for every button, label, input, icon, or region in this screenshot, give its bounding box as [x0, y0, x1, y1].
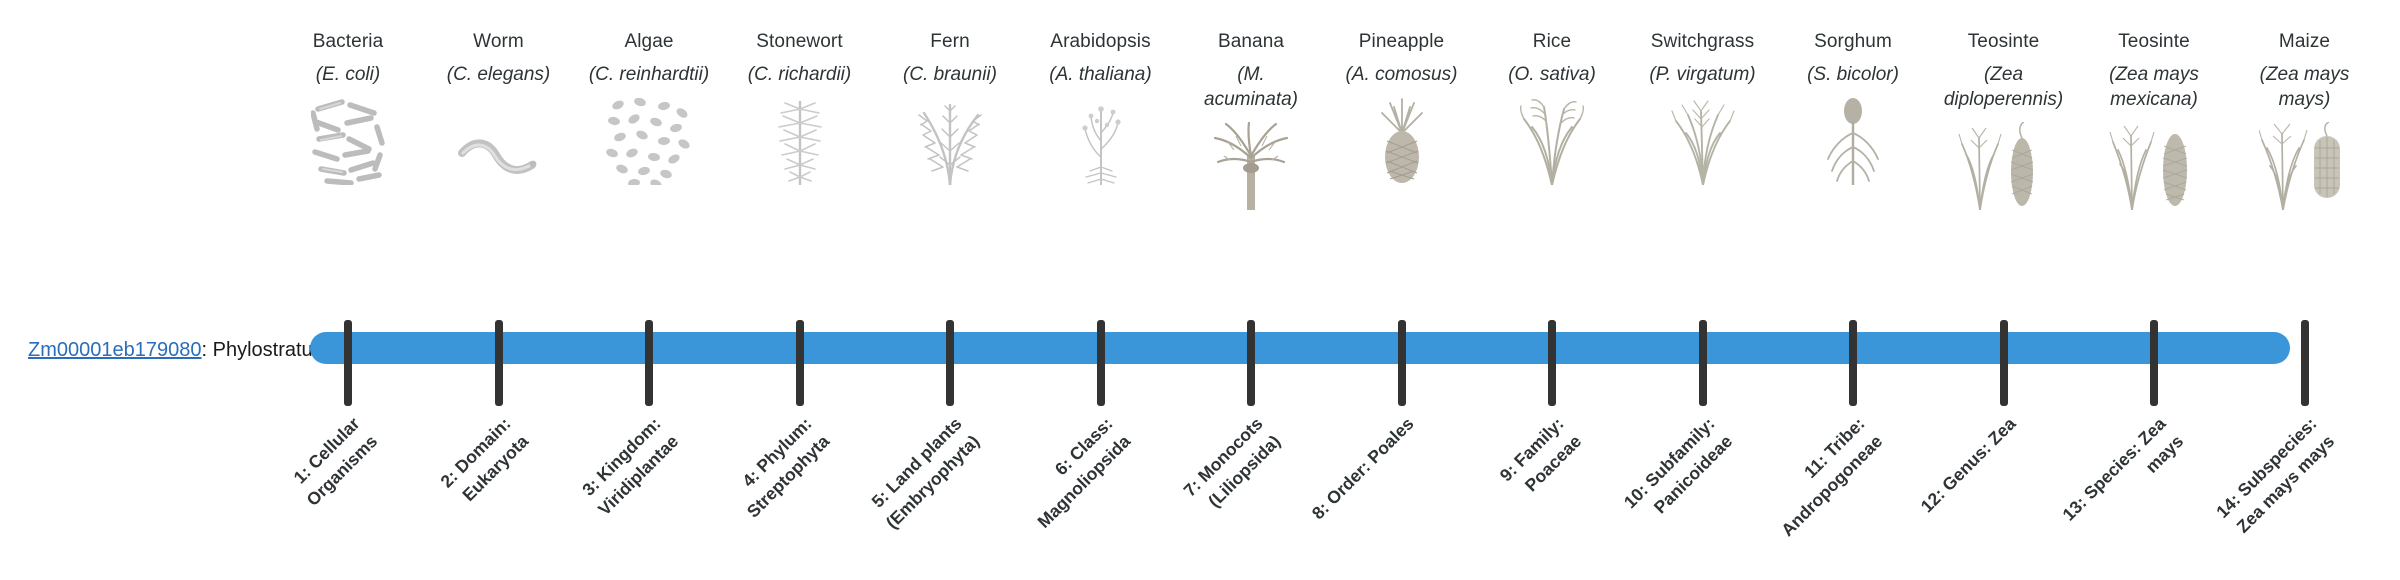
- species-common-name: Stonewort: [738, 30, 862, 54]
- species-scientific-name: (C. richardii): [738, 62, 862, 87]
- species-scientific-name: (A. comosus): [1340, 62, 1464, 87]
- taxonomy-rank-label: 1: Cellular Organisms: [242, 412, 383, 553]
- species-common-name: Fern: [888, 30, 1012, 54]
- taxonomy-rank-label: 11: Tribe: Andropogoneae: [1747, 412, 1888, 553]
- timeline-tick[interactable]: [2301, 320, 2309, 406]
- species-scientific-name: (C. reinhardtii): [587, 62, 711, 87]
- gene-phylostratum-label: Zm00001eb179080: Phylostratum 1: [28, 339, 346, 362]
- species-common-name: Teosinte: [2092, 30, 2216, 54]
- species-common-name: Algae: [587, 30, 711, 54]
- species-common-name: Pineapple: [1340, 30, 1464, 54]
- species-column: Rice(O. sativa): [1490, 30, 1614, 185]
- timeline-tick[interactable]: [1699, 320, 1707, 406]
- species-common-name: Bacteria: [286, 30, 410, 54]
- species-scientific-name: (S. bicolor): [1791, 62, 1915, 87]
- species-common-name: Teosinte: [1942, 30, 2066, 54]
- stonewort-icon: [738, 93, 862, 185]
- species-column: Worm(C. elegans): [437, 30, 561, 185]
- species-column: Bacteria(E. coli): [286, 30, 410, 185]
- timeline-tick[interactable]: [495, 320, 503, 406]
- species-common-name: Arabidopsis: [1039, 30, 1163, 54]
- pineapple-icon: [1340, 93, 1464, 185]
- species-column: Maize(Zea mays mays): [2243, 30, 2367, 210]
- worm-icon: [437, 93, 561, 185]
- timeline-tick[interactable]: [946, 320, 954, 406]
- species-scientific-name: (Zea mays mays): [2243, 62, 2367, 112]
- timeline-tick[interactable]: [796, 320, 804, 406]
- species-common-name: Sorghum: [1791, 30, 1915, 54]
- gene-separator: :: [201, 339, 212, 361]
- taxonomy-rank-label: 4: Phylum: Streptophyta: [693, 412, 834, 553]
- species-scientific-name: (C. braunii): [888, 62, 1012, 87]
- species-column: Fern(C. braunii): [888, 30, 1012, 185]
- taxonomy-rank-label: 13: Species: Zea mays: [2048, 412, 2189, 553]
- timeline-tick[interactable]: [2150, 320, 2158, 406]
- taxonomy-rank-label: 7: Monocots (Liliopsida): [1145, 412, 1286, 553]
- algae-icon: [587, 93, 711, 185]
- timeline-tick[interactable]: [1398, 320, 1406, 406]
- taxonomy-rank-label: 3: Kingdom: Viridiplantae: [543, 412, 684, 553]
- switchgrass-icon: [1641, 93, 1765, 185]
- species-scientific-name: (C. elegans): [437, 62, 561, 87]
- timeline-tick[interactable]: [1849, 320, 1857, 406]
- gene-id-link[interactable]: Zm00001eb179080: [28, 339, 201, 361]
- species-column: Stonewort(C. richardii): [738, 30, 862, 185]
- timeline-tick[interactable]: [1548, 320, 1556, 406]
- species-column: Sorghum(S. bicolor): [1791, 30, 1915, 185]
- species-common-name: Switchgrass: [1641, 30, 1765, 54]
- species-column: Teosinte(Zea diploperennis): [1942, 30, 2066, 210]
- timeline-tick[interactable]: [645, 320, 653, 406]
- taxonomy-rank-label: 9: Family: Poaceae: [1446, 412, 1587, 553]
- timeline-tick[interactable]: [2000, 320, 2008, 406]
- species-common-name: Banana: [1189, 30, 1313, 54]
- taxonomy-rank-label: 10: Subfamily: Panicoideae: [1596, 412, 1737, 553]
- species-common-name: Maize: [2243, 30, 2367, 54]
- teosinte-mexicana-icon: [2092, 118, 2216, 210]
- taxonomy-rank-label: 12: Genus: Zea: [1897, 412, 2021, 536]
- timeline-tick[interactable]: [1097, 320, 1105, 406]
- taxonomy-rank-label: 6: Class: Magnoliopsida: [994, 412, 1135, 553]
- taxonomy-rank-label: 5: Land plants (Embryophyta): [844, 412, 985, 553]
- species-column: Pineapple(A. comosus): [1340, 30, 1464, 185]
- taxonomy-rank-label: 2: Domain: Eukaryota: [392, 412, 533, 553]
- timeline-tick[interactable]: [344, 320, 352, 406]
- arabidopsis-icon: [1039, 93, 1163, 185]
- species-column: Switchgrass(P. virgatum): [1641, 30, 1765, 185]
- species-scientific-name: (E. coli): [286, 62, 410, 87]
- species-column: Banana(M. acuminata): [1189, 30, 1313, 210]
- phylostratum-bar[interactable]: [310, 332, 2290, 364]
- species-common-name: Worm: [437, 30, 561, 54]
- species-column: Arabidopsis(A. thaliana): [1039, 30, 1163, 185]
- species-common-name: Rice: [1490, 30, 1614, 54]
- species-scientific-name: (Zea mays mexicana): [2092, 62, 2216, 112]
- banana-icon: [1189, 118, 1313, 210]
- teosinte-diplo-icon: [1942, 118, 2066, 210]
- sorghum-icon: [1791, 93, 1915, 185]
- timeline-tick[interactable]: [1247, 320, 1255, 406]
- taxonomy-rank-label: 8: Order: Poales: [1295, 412, 1419, 536]
- maize-icon: [2243, 118, 2367, 210]
- rice-icon: [1490, 93, 1614, 185]
- species-scientific-name: (O. sativa): [1490, 62, 1614, 87]
- species-column: Algae(C. reinhardtii): [587, 30, 711, 185]
- fern-icon: [888, 93, 1012, 185]
- species-scientific-name: (M. acuminata): [1189, 62, 1313, 112]
- phylostratigraphy-figure: Bacteria(E. coli) Worm(C. elegans) Algae…: [0, 0, 2400, 580]
- species-scientific-name: (P. virgatum): [1641, 62, 1765, 87]
- species-scientific-name: (Zea diploperennis): [1942, 62, 2066, 112]
- taxonomy-rank-label: 14: Subspecies: Zea mays mays: [2198, 412, 2339, 553]
- bacteria-icon: [286, 93, 410, 185]
- species-column: Teosinte(Zea mays mexicana): [2092, 30, 2216, 210]
- species-header-row: Bacteria(E. coli) Worm(C. elegans) Algae…: [0, 0, 2400, 300]
- species-scientific-name: (A. thaliana): [1039, 62, 1163, 87]
